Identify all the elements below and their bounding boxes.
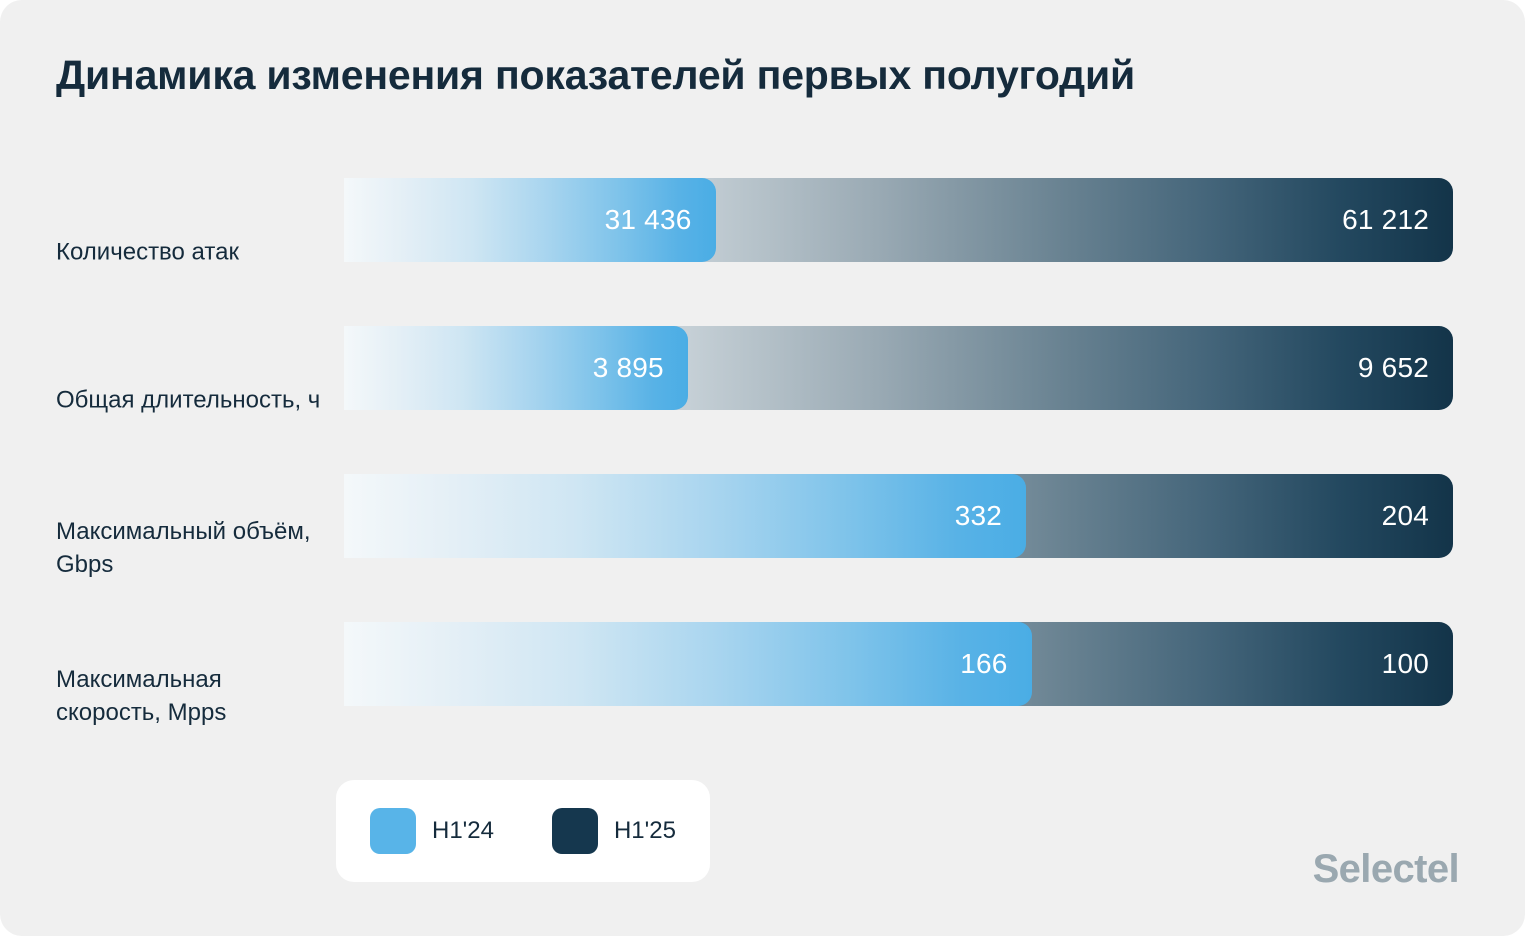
- bar-h1-24[interactable]: 31 436: [344, 178, 716, 262]
- selectel-logo: Selectel: [1313, 847, 1459, 892]
- bar-value-h1-24: 31 436: [605, 204, 692, 236]
- bar-value-h1-25: 9 652: [1358, 352, 1429, 384]
- legend-item-h1-24[interactable]: H1'24: [370, 808, 494, 854]
- bar-h1-24[interactable]: 3 895: [344, 326, 688, 410]
- bar-h1-24[interactable]: 332: [344, 474, 1026, 558]
- bar-row-label: Максимальная скорость, Mpps: [56, 663, 326, 729]
- bar-track: 9 652 3 895: [344, 326, 1453, 410]
- chart-canvas: Динамика изменения показателей первых по…: [0, 0, 1525, 936]
- legend-item-h1-25[interactable]: H1'25: [552, 808, 676, 854]
- bar-value-h1-25: 61 212: [1342, 204, 1429, 236]
- legend-label: H1'24: [432, 817, 494, 845]
- bar-h1-24[interactable]: 166: [344, 622, 1032, 706]
- chart-legend: H1'24 H1'25: [336, 780, 710, 882]
- bar-row-label: Общая длительность, ч: [56, 384, 326, 417]
- bar-value-h1-25: 204: [1382, 500, 1429, 532]
- legend-swatch-icon: [552, 808, 598, 854]
- bar-track: 100 166: [344, 622, 1453, 706]
- page-title: Динамика изменения показателей первых по…: [56, 52, 1135, 99]
- legend-label: H1'25: [614, 817, 676, 845]
- bar-row: Максимальная скорость, Mpps 100 166: [0, 622, 1525, 770]
- bar-value-h1-24: 332: [955, 500, 1002, 532]
- bar-row-label: Количество атак: [56, 236, 326, 269]
- bar-value-h1-24: 3 895: [593, 352, 664, 384]
- bar-row: Количество атак 61 212 31 436: [0, 178, 1525, 326]
- bar-row-label: Максимальный объём, Gbps: [56, 515, 326, 581]
- bar-row: Общая длительность, ч 9 652 3 895: [0, 326, 1525, 474]
- legend-swatch-icon: [370, 808, 416, 854]
- bar-value-h1-24: 166: [960, 648, 1007, 680]
- bar-row: Максимальный объём, Gbps 204 332: [0, 474, 1525, 622]
- bar-value-h1-25: 100: [1382, 648, 1429, 680]
- bar-track: 61 212 31 436: [344, 178, 1453, 262]
- bar-track: 204 332: [344, 474, 1453, 558]
- bar-rows: Количество атак 61 212 31 436 Общая длит…: [0, 178, 1525, 770]
